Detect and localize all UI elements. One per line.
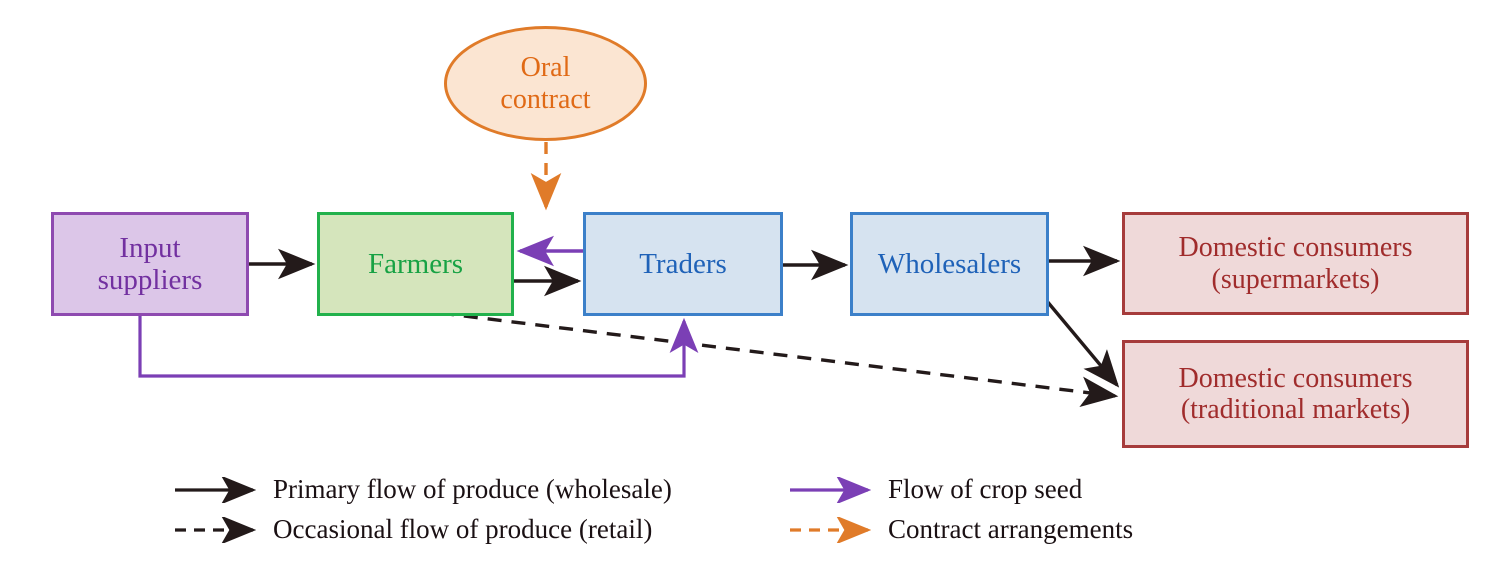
edge-wholesalers-to-traditional <box>1046 300 1117 385</box>
node-oral-contract[interactable]: Oral contract <box>444 26 647 141</box>
edge-input-suppliers-to-traders-seed <box>140 316 684 376</box>
edge-farmers-to-traditional-occasional <box>440 313 1115 396</box>
node-wholesalers[interactable]: Wholesalers <box>850 212 1049 316</box>
legend-label-occasional-flow: Occasional flow of produce (retail) <box>273 514 652 545</box>
legend-item-primary-flow: Primary flow of produce (wholesale) <box>175 474 672 505</box>
legend-label-crop-seed-flow: Flow of crop seed <box>888 474 1082 505</box>
dashed-arrow-icon <box>175 517 261 543</box>
diagram-canvas: Input suppliers Farmers Traders Wholesal… <box>0 0 1510 574</box>
node-consumers-supermarkets[interactable]: Domestic consumers (supermarkets) <box>1122 212 1469 315</box>
node-consumers-traditional[interactable]: Domestic consumers (traditional markets) <box>1122 340 1469 448</box>
node-farmers[interactable]: Farmers <box>317 212 514 316</box>
solid-purple-arrow-icon <box>790 477 876 503</box>
legend-item-crop-seed-flow: Flow of crop seed <box>790 474 1082 505</box>
legend-label-contract-arrangements: Contract arrangements <box>888 514 1133 545</box>
legend-label-primary-flow: Primary flow of produce (wholesale) <box>273 474 672 505</box>
dashed-orange-arrow-icon <box>790 517 876 543</box>
legend-item-contract-arrangements: Contract arrangements <box>790 514 1133 545</box>
node-input-suppliers[interactable]: Input suppliers <box>51 212 249 316</box>
solid-arrow-icon <box>175 477 261 503</box>
legend-item-occasional-flow: Occasional flow of produce (retail) <box>175 514 652 545</box>
node-traders[interactable]: Traders <box>583 212 783 316</box>
